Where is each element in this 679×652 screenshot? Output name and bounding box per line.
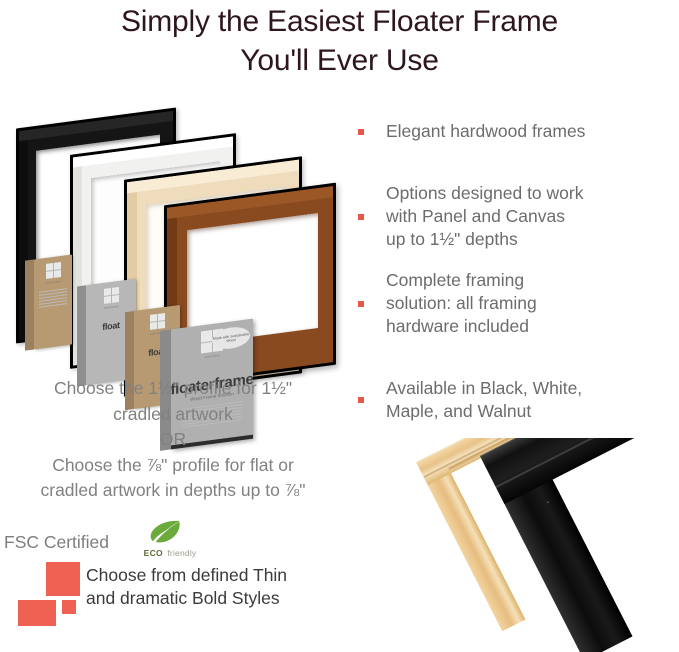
brand-logo-icon [46, 262, 61, 279]
product-box-kraft-1: Ampersand [34, 254, 72, 349]
page-title: Simply the Easiest Floater Frame You'll … [0, 2, 679, 80]
profile-instructions-line-5: cradled artwork in depths up to ⅞" [0, 478, 346, 504]
list-item: Complete framing solution: all framing h… [358, 269, 537, 338]
bullet-square-icon [358, 214, 364, 220]
square-large-icon [46, 562, 80, 596]
bullet-square-icon [358, 301, 364, 307]
product-box-face: Ampersand [34, 254, 72, 349]
page-title-line-2: You'll Ever Use [0, 41, 679, 80]
hero-frame-stack-image: Ampersand Ampersand float Ampersand floa… [8, 112, 348, 374]
product-box-brand: Ampersand [45, 280, 60, 285]
leaf-icon [148, 519, 182, 543]
styles-callout-label: Choose from defined Thin and dramatic Bo… [86, 564, 340, 610]
product-box-brand: Ampersand [103, 305, 118, 310]
product-box-product-name: float [102, 320, 120, 332]
styles-callout: Choose from defined Thin and dramatic Bo… [0, 560, 340, 618]
eco-friendly-badge: ECO friendly [140, 519, 200, 563]
list-item-label: Elegant hardwood frames [386, 120, 585, 143]
bullet-square-icon [358, 129, 364, 135]
certification-row: FSC Certified ECO friendly [0, 527, 230, 561]
brand-logo-icon [150, 313, 165, 330]
bullet-square-icon [358, 397, 364, 403]
eco-word: ECO [144, 548, 163, 558]
product-box-text-lines [39, 288, 66, 310]
square-wide-icon [18, 600, 56, 626]
square-small-icon [62, 600, 76, 614]
black-rail-horizontal [480, 438, 679, 504]
profile-instructions-line-4: Choose the ⅞" profile for flat or [0, 453, 346, 479]
brand-logo-icon [104, 287, 119, 304]
corner-profile-frames-image [330, 438, 679, 652]
list-item-label: Complete framing solution: all framing h… [386, 269, 537, 338]
page-title-line-1: Simply the Easiest Floater Frame [0, 2, 679, 41]
profile-instructions-line-3: OR [0, 427, 346, 453]
friendly-word: friendly [167, 548, 196, 558]
profile-instructions-line-2: cradled artwork [0, 402, 346, 428]
profile-instructions: Choose the 1½" profile for 1½" cradled a… [0, 376, 346, 504]
product-box-brand: Ampersand [204, 354, 219, 359]
product-box-spine [77, 285, 86, 386]
list-item: Options designed to work with Panel and … [358, 182, 583, 251]
thin-bold-squares-graphic [18, 560, 80, 616]
product-box-spine [25, 260, 34, 351]
profile-instructions-line-1: Choose the 1½" profile for 1½" [0, 376, 346, 402]
list-item: Available in Black, White, Maple, and Wa… [358, 377, 582, 423]
list-item-label: Options designed to work with Panel and … [386, 182, 583, 251]
fsc-certified-label: FSC Certified [4, 531, 109, 553]
eco-friendly-text: ECO friendly [140, 543, 200, 561]
list-item-label: Available in Black, White, Maple, and Wa… [386, 377, 582, 423]
list-item: Elegant hardwood frames [358, 120, 585, 143]
